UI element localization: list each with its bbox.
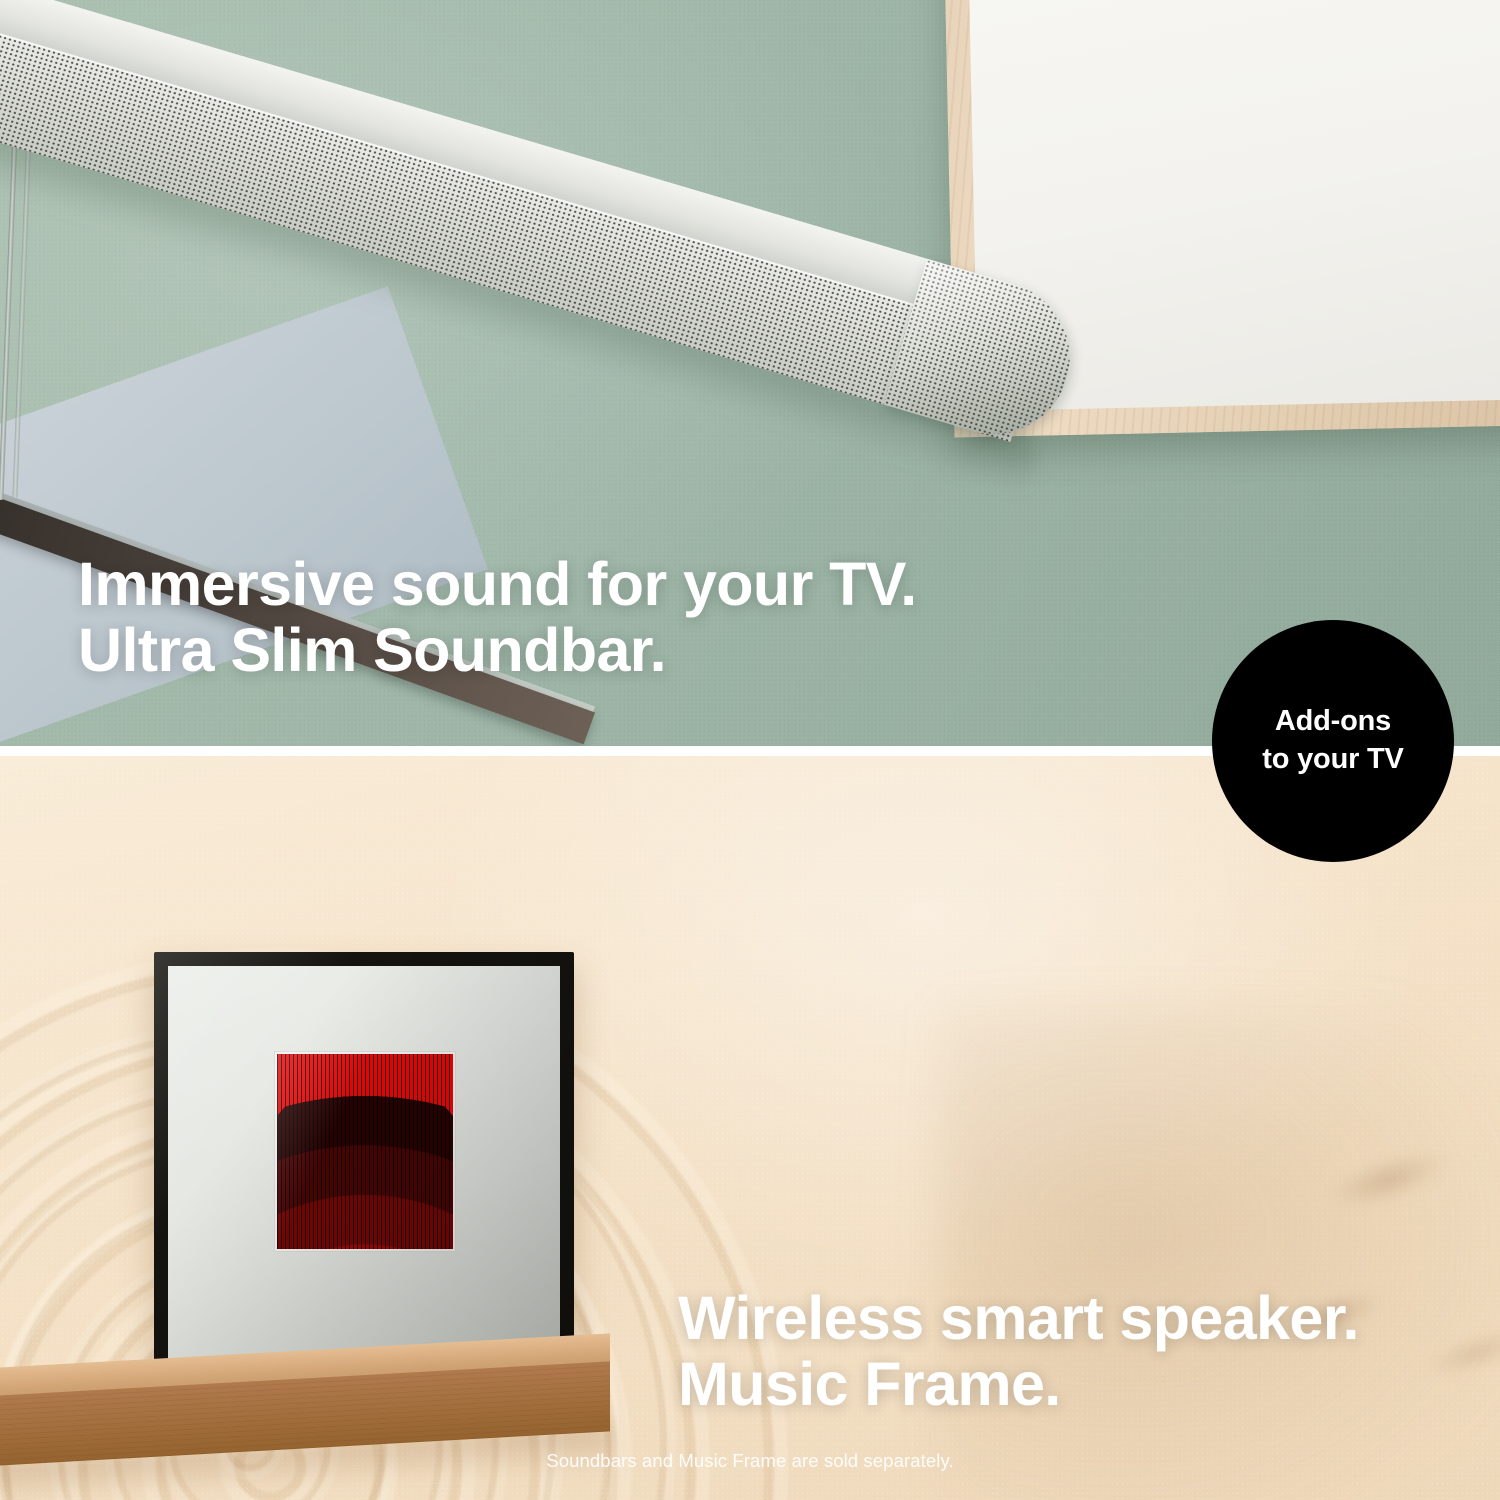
- headline-music-frame: Wireless smart speaker. Music Frame.: [678, 1286, 1359, 1418]
- headline-soundbar: Immersive sound for your TV. Ultra Slim …: [78, 552, 917, 684]
- music-frame-bevel-shading: [154, 952, 574, 1392]
- fineprint-disclaimer: Soundbars and Music Frame are sold separ…: [0, 1450, 1500, 1472]
- add-ons-badge[interactable]: Add-ons to your TV: [1212, 620, 1454, 862]
- add-ons-badge-label: Add-ons to your TV: [1262, 703, 1403, 778]
- promo-banner: Immersive sound for your TV. Ultra Slim …: [0, 0, 1500, 1500]
- music-frame-speaker: [154, 952, 574, 1392]
